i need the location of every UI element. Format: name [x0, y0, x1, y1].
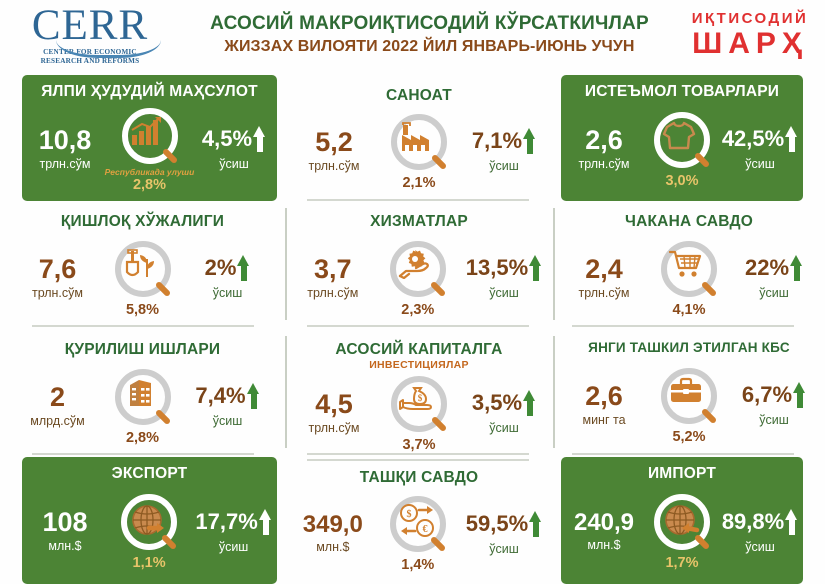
card-icon-group: $ 3,7%: [373, 373, 465, 453]
card-growth-row: 7,4%: [195, 383, 259, 409]
briefcase-glyph: [669, 376, 709, 416]
card-body: 108 млн.$: [28, 484, 271, 578]
bar-chart-glyph: [130, 116, 170, 156]
card-share-pct: 3,7%: [402, 438, 435, 453]
arrow-up-icon: [790, 255, 803, 281]
card-body: 349,0 млн.$: [291, 488, 547, 578]
card-growth-group: 3,5% ўсиш: [467, 390, 541, 435]
card-title: АСОСИЙ КАПИТАЛГА: [335, 341, 502, 358]
arrow-up-icon: [529, 511, 542, 537]
arrow-up-icon: [523, 128, 536, 154]
card-title: ЧАКАНА САВДО: [625, 213, 753, 230]
card-value-group: 5,2 трлн.сўм: [297, 129, 371, 173]
card-growth-row: 13,5%: [466, 255, 542, 281]
card-unit: трлн.сўм: [39, 158, 90, 171]
card-body: 3,7 трлн.сўм: [291, 232, 547, 323]
card-share-pct: 2,1%: [402, 176, 435, 191]
card-share-pct: 2,3%: [401, 303, 434, 318]
card-body: 4,5 трлн.сўм: [291, 373, 547, 453]
indicator-cell: ИМПОРТ 240,9 млн.$: [553, 457, 825, 584]
card-growth-group: 89,8% ўсиш: [723, 509, 797, 554]
card-title: ЯЛПИ ҲУДУДИЙ МАҲСУЛОТ: [41, 83, 258, 100]
card-growth: 22%: [745, 257, 789, 279]
card-value-group: 108 млн.$: [28, 509, 102, 553]
indicator-cell: АСОСИЙ КАПИТАЛГА ИНВЕСТИЦИЯЛАР 4,5 трлн.…: [285, 329, 553, 457]
arrow-up-icon: [237, 255, 250, 281]
card-value: 2: [50, 384, 65, 411]
card-value-group: 3,7 трлн.сўм: [296, 256, 370, 300]
card-value-group: 349,0 млн.$: [296, 513, 370, 554]
indicator-cell: ҚИШЛОҚ ХЎЖАЛИГИ 7,6 трлн.сўм: [0, 201, 285, 329]
card-title: ҚИШЛОҚ ХЎЖАЛИГИ: [61, 213, 224, 230]
card-growth-label: ўсиш: [759, 413, 789, 427]
card-growth: 89,8%: [722, 511, 784, 533]
card-subtitle: ИНВЕСТИЦИЯЛАР: [369, 359, 469, 371]
globe-arrow-right-glyph: [129, 502, 169, 542]
card-title: ХИЗМАТЛАР: [370, 213, 468, 230]
card-growth-row: 59,5%: [466, 511, 542, 537]
svg-text:$: $: [418, 393, 423, 403]
card-body: 5,2 трлн.сўм: [291, 106, 547, 195]
card-growth-row: 22%: [745, 255, 803, 281]
card-growth-row: 7,1%: [472, 128, 536, 154]
card-share-pct: 2,8%: [133, 178, 166, 193]
card-icon-group: $ €: [372, 493, 464, 573]
card-title: ЭКСПОРТ: [112, 465, 188, 482]
indicator-cell: ЭКСПОРТ 108 млн.$: [0, 457, 285, 584]
card-value: 108: [42, 509, 87, 536]
indicator-row-4: ЭКСПОРТ 108 млн.$: [0, 457, 825, 584]
globe-export-icon: [118, 491, 180, 553]
indicator-cell: ЯЛПИ ҲУДУДИЙ МАҲСУЛОТ 10,8 трлн.сўм: [0, 75, 285, 201]
card-growth-group: 42,5% ўсиш: [723, 126, 797, 171]
card-value-group: 10,8 трлн.сўм: [28, 127, 102, 171]
card-icon-group: 1,1%: [104, 491, 194, 571]
card-title: ИМПОРТ: [648, 465, 716, 482]
card-growth-label: ўсиш: [489, 421, 519, 435]
card-growth: 4,5%: [202, 128, 252, 150]
arrow-up-icon: [529, 255, 542, 281]
card-growth-row: 17,7%: [195, 509, 271, 535]
sharh-logo-line1: ИҚТИСОДИЙ: [692, 11, 809, 26]
card-growth-label: ўсиш: [489, 159, 519, 173]
magnifier-bar-chart-icon: [119, 105, 181, 167]
card-body: 10,8 трлн.сўм: [28, 102, 271, 195]
card-share-pct: 1,1%: [133, 556, 166, 571]
svg-text:$: $: [406, 509, 411, 520]
globe-arrow-left-glyph: [662, 502, 702, 542]
card-title: САНОАТ: [386, 87, 452, 104]
card-value: 10,8: [39, 127, 92, 154]
indicator-cell: ТАШҚИ САВДО 349,0 млн.$: [285, 457, 553, 584]
card-growth-group: 22% ўсиш: [737, 255, 811, 300]
card-unit: трлн.сўм: [308, 160, 359, 173]
building-glyph: [123, 377, 163, 417]
indicator-cell: ИСТЕЪМОЛ ТОВАРЛАРИ 2,6 трлн.сўм: [553, 75, 825, 201]
card-growth-group: 7,4% ўсиш: [191, 383, 265, 428]
hand-gear-icon: [387, 238, 449, 300]
card-icon-group: Республикада улуши 2,8%: [104, 105, 195, 193]
card-icon-group: 4,1%: [643, 238, 735, 318]
card-construction[interactable]: ҚУРИЛИШ ИШЛАРИ 2 млрд.сўм: [0, 329, 285, 457]
card-value: 5,2: [315, 129, 353, 156]
card-gross-regional-product[interactable]: ЯЛПИ ҲУДУДИЙ МАҲСУЛОТ 10,8 трлн.сўм: [22, 75, 277, 201]
globe-import-icon: [651, 491, 713, 553]
card-value: 3,7: [314, 256, 352, 283]
card-share-pct: 1,7%: [665, 556, 698, 571]
card-unit: минг та: [582, 414, 625, 427]
card-unit: трлн.сўм: [578, 158, 629, 171]
card-value: 4,5: [315, 391, 353, 418]
card-unit: млн.$: [48, 540, 81, 553]
card-body: 240,9 млн.$: [567, 484, 797, 578]
card-growth-group: 2% ўсиш: [191, 255, 265, 300]
card-value: 7,6: [39, 256, 77, 283]
iqtisodiy-sharh-logo: ИҚТИСОДИЙ ШАРҲ: [675, 0, 825, 70]
card-new-enterprises[interactable]: ЯНГИ ТАШКИЛ ЭТИЛГАН КБС 2,6 минг та: [553, 329, 825, 457]
card-growth-row: 42,5%: [722, 126, 798, 152]
cerr-logo: CERR CENTER FOR ECONOMICRESEARCH AND REF…: [0, 0, 180, 70]
card-import[interactable]: ИМПОРТ 240,9 млн.$: [561, 457, 803, 584]
card-growth-group: 4,5% ўсиш: [197, 126, 271, 171]
card-icon-group: 5,2%: [643, 365, 735, 445]
infographic-page: CERR CENTER FOR ECONOMICRESEARCH AND REF…: [0, 0, 825, 584]
card-icon-group: 2,8%: [97, 366, 189, 446]
page-title: АСОСИЙ МАКРОИҚТИСОДИЙ КЎРСАТКИЧЛАР: [184, 12, 675, 36]
card-growth: 7,1%: [472, 130, 522, 152]
card-unit: млрд.сўм: [30, 415, 84, 428]
card-unit: млн.$: [316, 541, 349, 554]
card-value: 240,9: [574, 511, 634, 535]
card-growth-group: 17,7% ўсиш: [196, 509, 271, 554]
card-growth: 6,7%: [742, 384, 792, 406]
card-unit: трлн.сўм: [308, 422, 359, 435]
briefcase-icon: [658, 365, 720, 427]
card-unit: млн.$: [587, 539, 620, 552]
card-unit: трлн.сўм: [578, 287, 629, 300]
card-growth-group: 13,5% ўсиш: [466, 255, 542, 300]
card-value-group: 240,9 млн.$: [567, 511, 641, 552]
card-growth-group: 6,7% ўсиш: [737, 382, 811, 427]
card-value: 2,6: [585, 383, 623, 410]
arrow-up-icon: [523, 390, 536, 416]
indicator-cell: ҚУРИЛИШ ИШЛАРИ 2 млрд.сўм: [0, 329, 285, 457]
sharh-logo-line2: ШАРҲ: [692, 28, 808, 60]
hand-gear-glyph: [398, 249, 438, 289]
card-industry[interactable]: САНОАТ 5,2 трлн.сўм: [285, 75, 553, 201]
card-agriculture[interactable]: ҚИШЛОҚ ХЎЖАЛИГИ 7,6 трлн.сўм: [0, 201, 285, 329]
arrow-up-icon: [247, 383, 260, 409]
card-growth-label: ўсиш: [213, 286, 243, 300]
card-growth-label: ўсиш: [745, 157, 775, 171]
card-body: 2,6 трлн.сўм: [567, 102, 797, 195]
card-share-pct: 4,1%: [672, 303, 705, 318]
card-growth-label: ўсиш: [219, 157, 249, 171]
card-value: 2,6: [585, 127, 623, 154]
indicator-cell: ЯНГИ ТАШКИЛ ЭТИЛГАН КБС 2,6 минг та: [553, 329, 825, 457]
currency-exchange-icon: $ €: [387, 493, 449, 555]
tshirt-icon: [651, 109, 713, 171]
shovel-plant-icon: [112, 238, 174, 300]
card-value-group: 7,6 трлн.сўм: [21, 256, 95, 300]
card-growth: 13,5%: [466, 257, 528, 279]
building-icon: [112, 366, 174, 428]
card-growth-label: ўсиш: [759, 286, 789, 300]
card-unit: трлн.сўм: [32, 287, 83, 300]
card-share-label: Республикада улуши: [105, 168, 195, 177]
dollar-euro-exchange-glyph: $ €: [398, 504, 438, 544]
card-title: ИСТЕЪМОЛ ТОВАРЛАРИ: [585, 83, 779, 100]
card-value: 2,4: [585, 256, 623, 283]
card-growth: 2%: [205, 257, 237, 279]
factory-icon: [388, 111, 450, 173]
header-titles: АСОСИЙ МАКРОИҚТИСОДИЙ КЎРСАТКИЧЛАР ЖИЗЗА…: [180, 12, 675, 59]
money-bag-glyph: $: [399, 384, 439, 424]
card-unit: трлн.сўм: [307, 287, 358, 300]
card-icon-group: 3,0%: [643, 109, 721, 189]
card-growth: 7,4%: [195, 385, 245, 407]
arrow-up-icon: [785, 509, 798, 535]
card-growth-group: 7,1% ўсиш: [467, 128, 541, 173]
card-title: ЯНГИ ТАШКИЛ ЭТИЛГАН КБС: [588, 341, 790, 356]
shopping-cart-glyph: [669, 249, 709, 289]
shovel-plant-glyph: [123, 249, 163, 289]
card-body: 2,4 трлн.сўм: [559, 232, 819, 323]
arrow-up-icon: [259, 509, 272, 535]
card-icon-group: 1,7%: [643, 491, 721, 571]
card-value-group: 2 млрд.сўм: [21, 384, 95, 428]
card-share-pct: 2,8%: [126, 431, 159, 446]
arrow-up-icon: [793, 382, 806, 408]
card-value-group: 2,6 трлн.сўм: [567, 127, 641, 171]
card-value-group: 4,5 трлн.сўм: [297, 391, 371, 435]
page-subtitle: ЖИЗЗАХ ВИЛОЯТИ 2022 ЙИЛ ЯНВАРЬ-ИЮНЬ УЧУН: [184, 37, 675, 58]
card-value-group: 2,6 минг та: [567, 383, 641, 427]
card-growth-row: 2%: [205, 255, 251, 281]
card-growth-label: ўсиш: [489, 542, 519, 556]
indicator-row-2: ҚИШЛОҚ ХЎЖАЛИГИ 7,6 трлн.сўм: [0, 201, 825, 329]
card-growth-row: 3,5%: [472, 390, 536, 416]
indicator-grid: ЯЛПИ ҲУДУДИЙ МАҲСУЛОТ 10,8 трлн.сўм: [0, 70, 825, 584]
card-growth: 17,7%: [195, 511, 257, 533]
card-growth-row: 6,7%: [742, 382, 806, 408]
factory-glyph: [399, 122, 439, 162]
card-growth-label: ўсиш: [489, 286, 519, 300]
indicator-cell: САНОАТ 5,2 трлн.сўм: [285, 75, 553, 201]
card-services[interactable]: ХИЗМАТЛАР 3,7 трлн.сўм: [285, 201, 553, 329]
card-title: ТАШҚИ САВДО: [360, 469, 478, 486]
card-share-pct: 1,4%: [401, 558, 434, 573]
card-share-pct: 5,2%: [672, 430, 705, 445]
svg-text:€: €: [422, 524, 427, 535]
shopping-cart-icon: [658, 238, 720, 300]
card-consumer-goods[interactable]: ИСТЕЪМОЛ ТОВАРЛАРИ 2,6 трлн.сўм: [561, 75, 803, 201]
card-icon-group: 2,1%: [373, 111, 465, 191]
card-value: 349,0: [303, 513, 363, 537]
card-foreign-trade[interactable]: ТАШҚИ САВДО 349,0 млн.$: [285, 457, 553, 584]
hand-money-bag-icon: $: [388, 373, 450, 435]
card-share-pct: 3,0%: [665, 174, 698, 189]
tshirt-glyph: [662, 120, 702, 160]
card-body: 7,6 трлн.сўм: [6, 232, 279, 323]
card-retail-trade[interactable]: ЧАКАНА САВДО 2,4 трлн.сўм: [553, 201, 825, 329]
card-icon-group: 2,3%: [372, 238, 464, 318]
card-growth: 42,5%: [722, 128, 784, 150]
card-growth-label: ўсиш: [213, 414, 243, 428]
indicator-row-3: ҚУРИЛИШ ИШЛАРИ 2 млрд.сўм: [0, 329, 825, 457]
card-body: 2,6 минг та: [559, 358, 819, 451]
card-growth-row: 4,5%: [202, 126, 266, 152]
card-growth: 59,5%: [466, 513, 528, 535]
card-growth-label: ўсиш: [219, 540, 249, 554]
card-growth-row: 89,8%: [722, 509, 798, 535]
arrow-up-icon: [785, 126, 798, 152]
card-growth-label: ўсиш: [745, 540, 775, 554]
card-title: ҚУРИЛИШ ИШЛАРИ: [65, 341, 221, 358]
card-body: 2 млрд.сўм: [6, 360, 279, 451]
indicator-cell: ХИЗМАТЛАР 3,7 трлн.сўм: [285, 201, 553, 329]
arrow-up-icon: [253, 126, 266, 152]
card-share-pct: 5,8%: [126, 303, 159, 318]
card-export[interactable]: ЭКСПОРТ 108 млн.$: [22, 457, 277, 584]
card-growth: 3,5%: [472, 392, 522, 414]
card-value-group: 2,4 трлн.сўм: [567, 256, 641, 300]
indicator-row-1: ЯЛПИ ҲУДУДИЙ МАҲСУЛОТ 10,8 трлн.сўм: [0, 75, 825, 201]
header: CERR CENTER FOR ECONOMICRESEARCH AND REF…: [0, 0, 825, 70]
card-growth-group: 59,5% ўсиш: [466, 511, 542, 556]
indicator-cell: ЧАКАНА САВДО 2,4 трлн.сўм: [553, 201, 825, 329]
card-icon-group: 5,8%: [97, 238, 189, 318]
card-fixed-capital-investment[interactable]: АСОСИЙ КАПИТАЛГА ИНВЕСТИЦИЯЛАР 4,5 трлн.…: [285, 329, 553, 457]
